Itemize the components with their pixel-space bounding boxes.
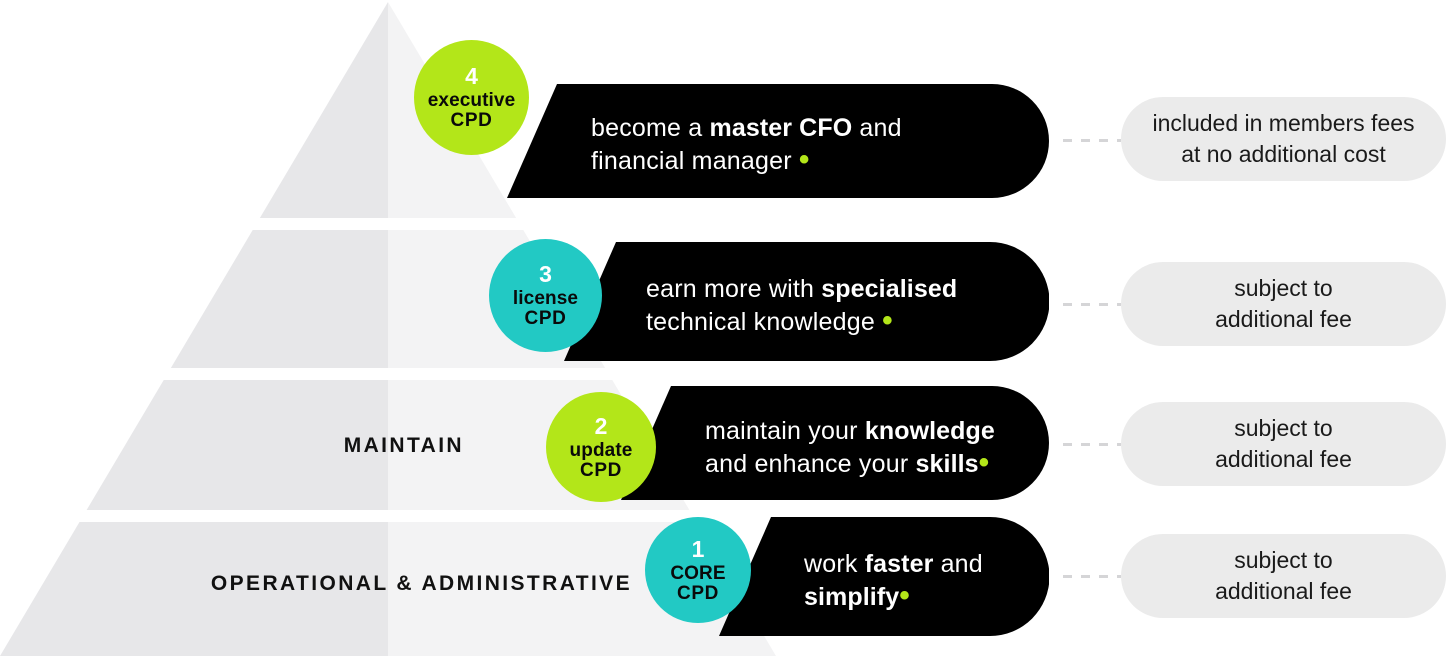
note-pill-maintain: subject to additional fee [1121,402,1446,486]
badge-name-license: license [513,289,578,308]
maintain-line1-bold: knowledge [865,417,995,445]
badge-sub-license: CPD [525,309,567,328]
note-specialise-line2: additional fee [1215,304,1352,335]
maintain-line1-pre: maintain your [705,417,865,445]
maintain-line2-pre: and enhance your [705,450,916,478]
callout-maintain: maintain your knowledge and enhance your… [611,386,1049,500]
callout-text-operational: work faster and simplify• [804,548,1044,614]
badge-number-2: 2 [595,415,608,438]
operational-line1-pre: work [804,550,865,578]
note-pill-master: included in members fees at no additiona… [1121,97,1446,181]
badge-sub-executive: CPD [451,111,493,130]
master-line1-bold: master CFO [710,114,853,142]
note-operational-line2: additional fee [1215,576,1352,607]
specialise-line2-pre: technical knowledge [646,308,882,336]
operational-line1-bold: faster [865,550,934,578]
connector-operational [1063,575,1121,578]
badge-name-core: CORE [670,564,725,583]
master-line1-pre: become a [591,114,710,142]
badge-license-cpd[interactable]: 3 license CPD [489,239,602,352]
badge-core-cpd[interactable]: 1 CORE CPD [645,517,751,623]
badge-update-cpd[interactable]: 2 update CPD [546,392,656,502]
callout-operational: work faster and simplify• [709,517,1049,636]
operational-line2-bold: simplify [804,583,899,611]
cpd-pyramid-infographic: MASTER SPECIALISE MAINTAIN OPERATIONAL &… [0,0,1449,656]
badge-name-executive: executive [428,91,516,110]
callout-master: become a master CFO and financial manage… [497,84,1049,198]
callout-text-maintain: maintain your knowledge and enhance your… [705,415,1055,481]
badge-name-update: update [570,441,633,460]
maintain-line2-bold: skills [916,450,979,478]
specialise-line1-pre: earn more with [646,275,821,303]
connector-master [1063,139,1121,142]
master-end-dot: • [799,143,810,176]
callout-text-master: become a master CFO and financial manage… [591,112,1031,178]
master-line2-pre: financial manager [591,147,799,175]
callout-text-specialise: earn more with specialised technical kno… [646,273,1046,339]
note-specialise-line1: subject to [1215,273,1352,304]
specialise-end-dot: • [882,304,893,337]
badge-sub-core: CPD [677,584,719,603]
badge-number-3: 3 [539,263,552,286]
operational-end-dot: • [899,579,910,612]
connector-maintain [1063,443,1121,446]
tier-label-operational: OPERATIONAL & ADMINISTRATIVE [100,572,632,596]
badge-sub-update: CPD [580,461,622,480]
note-maintain-line1: subject to [1215,413,1352,444]
badge-number-1: 1 [692,538,705,561]
badge-executive-cpd[interactable]: 4 executive CPD [414,40,529,155]
note-operational-line1: subject to [1215,545,1352,576]
tier-label-maintain: MAINTAIN [140,434,464,458]
note-master-line2: at no additional cost [1152,139,1414,170]
badge-number-4: 4 [465,65,478,88]
note-pill-specialise: subject to additional fee [1121,262,1446,346]
note-maintain-line2: additional fee [1215,444,1352,475]
connector-specialise [1063,303,1121,306]
operational-line1-post: and [933,550,982,578]
maintain-end-dot: • [979,446,990,479]
specialise-line1-bold: specialised [821,275,957,303]
note-master-line1: included in members fees [1152,108,1414,139]
callout-specialise: earn more with specialised technical kno… [554,242,1049,361]
note-pill-operational: subject to additional fee [1121,534,1446,618]
master-line1-post: and [852,114,901,142]
